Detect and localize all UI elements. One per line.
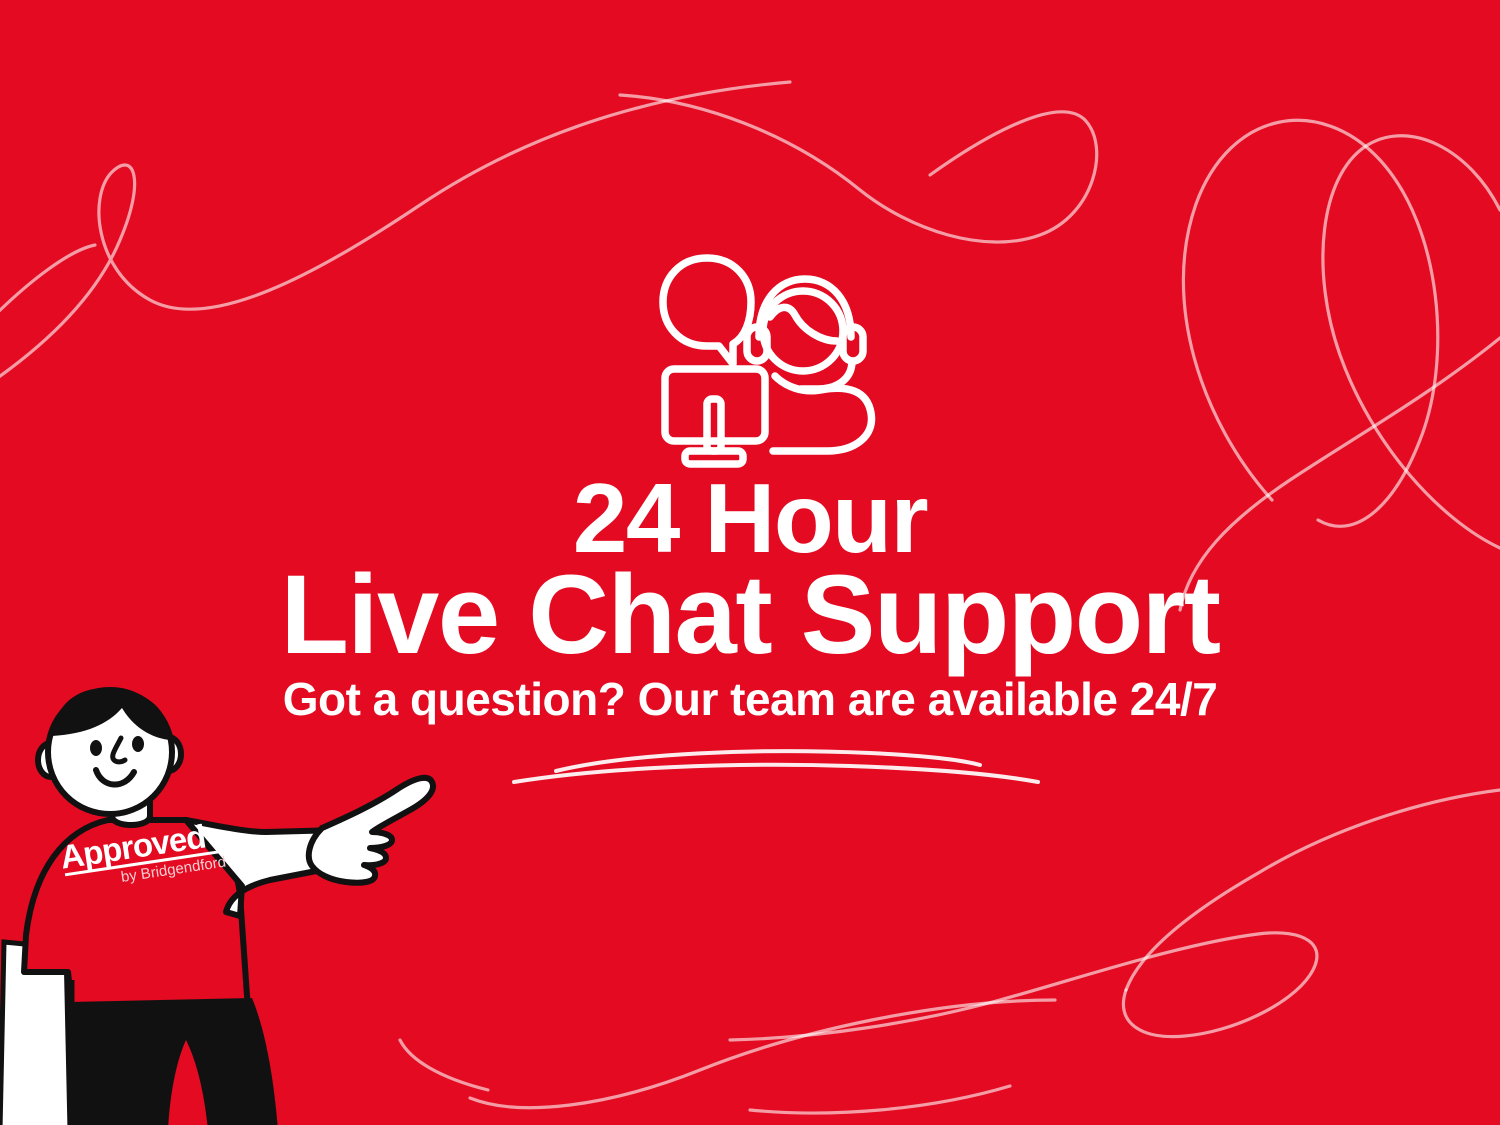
headline-block: 24 Hour Live Chat Support (0, 470, 1500, 670)
mascot-right-eye (132, 736, 144, 752)
mascot-trousers (70, 998, 278, 1125)
monitor-screen-icon (665, 369, 765, 441)
speech-bubble-icon (663, 258, 751, 364)
squiggle-left-edge (0, 245, 95, 320)
squiggle-bottom-right (730, 933, 1317, 1040)
mascot-pointing-hand (309, 778, 433, 883)
agent-body-icon (773, 376, 872, 451)
hand-drawn-underline (470, 735, 1080, 805)
live-chat-support-icon (655, 245, 900, 475)
pointing-person-illustration (0, 680, 440, 1125)
underline-stroke-lower (514, 765, 1038, 782)
agent-head-icon (763, 291, 843, 371)
promo-banner: 24 Hour Live Chat Support Got a question… (0, 0, 1500, 1125)
squiggle-top-mid (620, 95, 1097, 242)
mascot-left-eye (90, 740, 102, 756)
headline-line-2: Live Chat Support (0, 560, 1500, 670)
squiggle-right-lower (1126, 790, 1500, 990)
agent-hair-icon (770, 307, 837, 341)
squiggle-top-right (1183, 120, 1437, 526)
squiggle-bottom-midleft (750, 1086, 1010, 1113)
squiggle-bottom-center (470, 1000, 1055, 1108)
